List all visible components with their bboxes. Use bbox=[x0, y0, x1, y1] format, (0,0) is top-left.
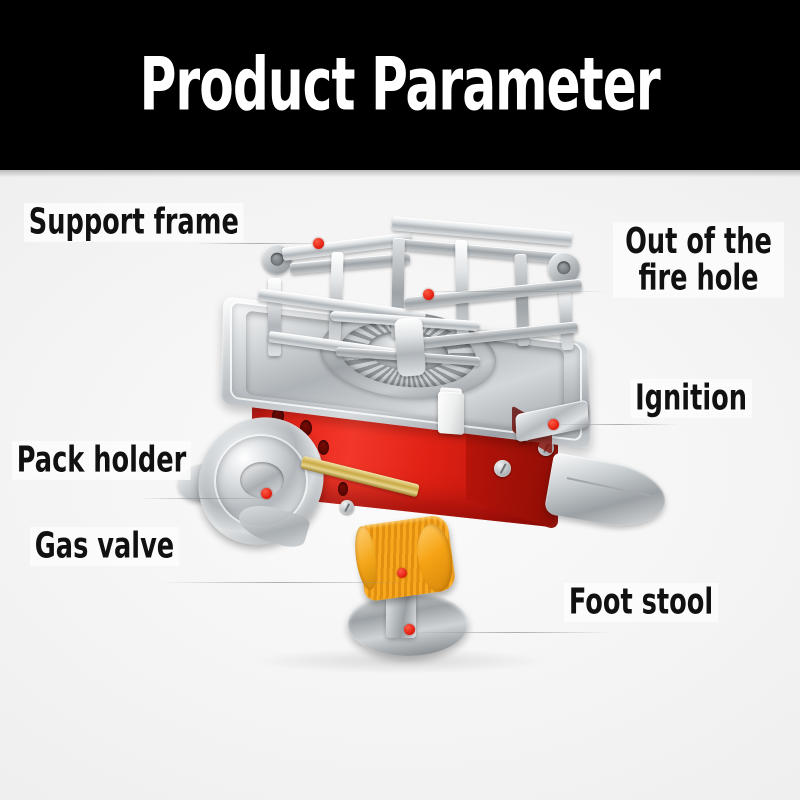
callout-label-gas-valve: Gas valve bbox=[30, 527, 179, 566]
leader-line-ignition bbox=[560, 424, 678, 425]
igniter-button bbox=[438, 391, 464, 435]
page-header: Product Parameter bbox=[0, 0, 800, 170]
header-drop-shadow bbox=[0, 170, 800, 177]
product-parameter-page: Support frame Out of the fire hole Ignit… bbox=[0, 0, 800, 800]
callout-label-line-2: fire hole bbox=[618, 260, 780, 297]
callout-label-support-frame: Support frame bbox=[24, 203, 244, 242]
marker-dot-support-frame bbox=[313, 238, 324, 249]
frame-center-hub bbox=[394, 317, 426, 377]
callout-label-line-1: Out of the bbox=[618, 223, 780, 260]
callout-label-ignition: Ignition bbox=[630, 379, 751, 418]
callout-label-foot-stool: Foot stool bbox=[564, 583, 718, 622]
marker-dot-gas-valve bbox=[397, 568, 407, 578]
marker-dot-pack-holder bbox=[261, 488, 272, 499]
leader-line-foot-stool bbox=[420, 632, 610, 633]
leader-line-gas-valve bbox=[160, 582, 398, 583]
page-title: Product Parameter bbox=[140, 48, 660, 121]
marker-dot-fire-hole bbox=[423, 289, 434, 300]
leader-line-pack-holder bbox=[140, 498, 264, 499]
callout-label-pack-holder: Pack holder bbox=[12, 441, 191, 480]
marker-dot-ignition bbox=[548, 419, 559, 430]
marker-dot-foot-stool bbox=[404, 624, 415, 635]
callout-label-out-of-the-fire-hole: Out of the fire hole bbox=[613, 222, 784, 298]
leader-line-support-frame bbox=[196, 243, 318, 244]
leader-line-fire-hole bbox=[432, 291, 608, 292]
